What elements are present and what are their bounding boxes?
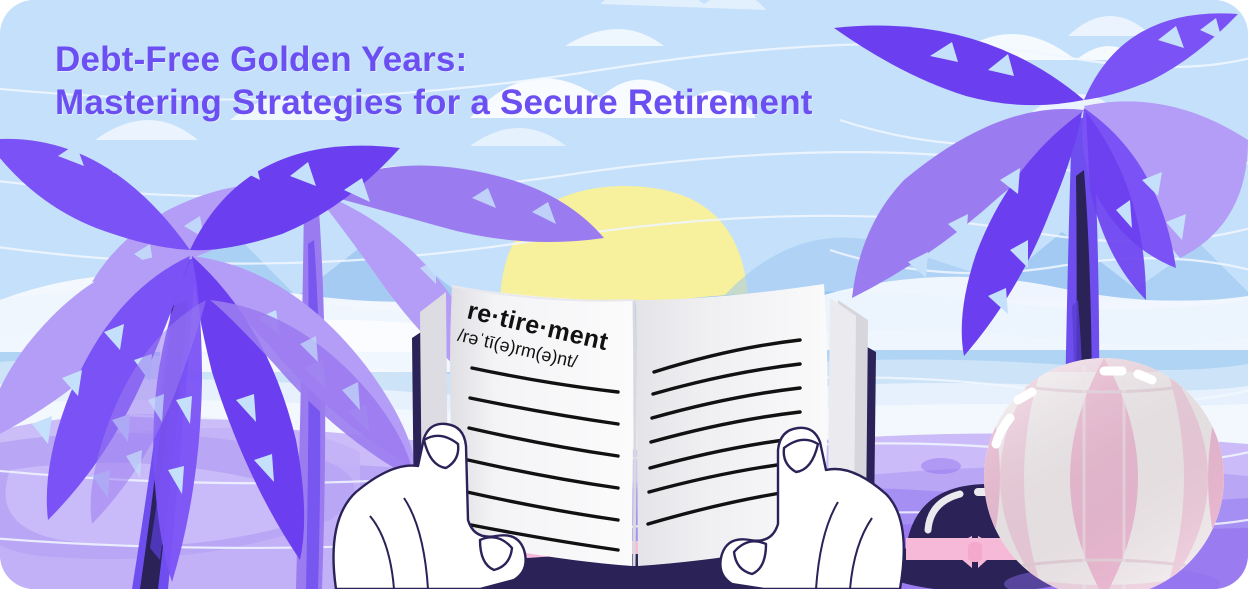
- beach-scene-illustration: re·tire·ment /rəˈtī(ə)rm(ə)nt/: [0, 0, 1248, 589]
- retirement-banner: re·tire·ment /rəˈtī(ə)rm(ə)nt/: [0, 0, 1248, 589]
- sand-pebble: [921, 458, 961, 474]
